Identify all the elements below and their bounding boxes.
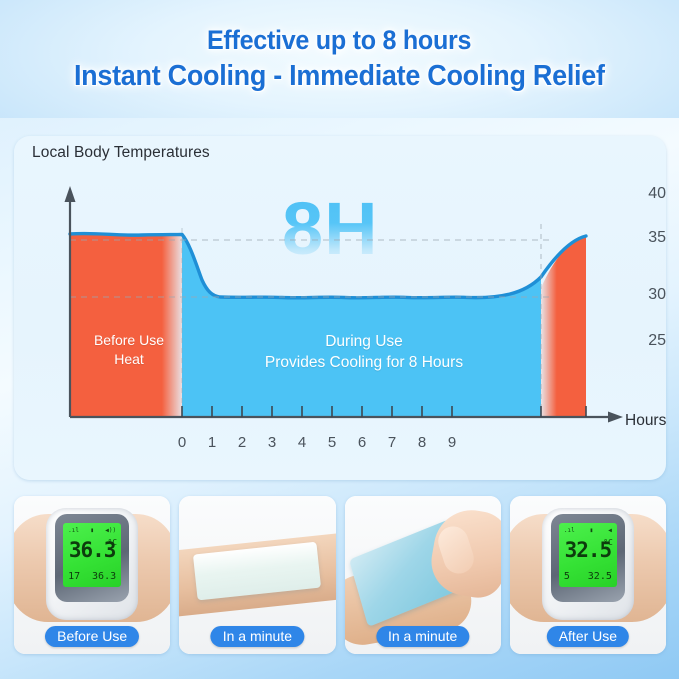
thumbnail-badge-in-a-minute-1: In a minute (211, 626, 304, 647)
region-label-before-use: Before Use Heat (86, 331, 172, 369)
thermometer-unit-after: °C (603, 538, 613, 547)
battery-icon-after: ▮ (590, 527, 594, 534)
chart-card: Local Body Temperatures 8H (14, 136, 666, 480)
thumbnail-strip: .ıl▮◀)) 36.3 °C 17 36.3 Before Use In a … (14, 496, 666, 656)
y-tick-40: 40 (622, 185, 666, 203)
thumbnail-badge-in-a-minute-2: In a minute (376, 626, 469, 647)
thumbnail-before-use[interactable]: .ıl▮◀)) 36.3 °C 17 36.3 Before Use (14, 496, 170, 654)
region-label-during-use: During Use Provides Cooling for 8 Hours (194, 331, 534, 373)
thermometer-unit: °C (107, 538, 117, 547)
speaker-icon: ◀)) (105, 527, 116, 534)
thumbnail-badge-before-use: Before Use (45, 626, 139, 647)
x-axis-title: Hours (625, 412, 666, 430)
x-tick-4: 4 (291, 434, 313, 451)
region-before-line-2: Heat (86, 350, 172, 369)
thermometer-memory-value: 36.3 (92, 571, 116, 582)
battery-icon: ▮ (90, 527, 94, 534)
thumbnail-in-a-minute-2[interactable]: In a minute (345, 496, 501, 654)
x-tick-1: 1 (201, 434, 223, 451)
temperature-area-chart (14, 136, 666, 480)
x-tick-7: 7 (381, 434, 403, 451)
region-during-line-2: Provides Cooling for 8 Hours (194, 352, 534, 373)
x-tick-5: 5 (321, 434, 343, 451)
speaker-icon-after: ◀ (608, 527, 612, 534)
y-tick-35: 35 (622, 229, 666, 247)
thermometer-memory-index: 17 (68, 571, 80, 582)
headline-line-2: Instant Cooling - Immediate Cooling Reli… (74, 57, 605, 95)
x-tick-3: 3 (261, 434, 283, 451)
x-tick-2: 2 (231, 434, 253, 451)
thermometer-memory-index-after: 5 (564, 571, 570, 582)
thumbnail-in-a-minute-1[interactable]: In a minute (179, 496, 335, 654)
x-tick-8: 8 (411, 434, 433, 451)
thumbnail-after-use[interactable]: .ıl▮◀ 32.5 °C 5 32.5 After Use (510, 496, 666, 654)
headline-line-1: Effective up to 8 hours (207, 23, 471, 57)
x-tick-0: 0 (171, 434, 193, 451)
thermometer-memory-value-after: 32.5 (588, 571, 612, 582)
region-before-line-1: Before Use (86, 331, 172, 350)
region-during-line-1: During Use (194, 331, 534, 352)
thumbnail-badge-after-use: After Use (547, 626, 629, 647)
x-tick-9: 9 (441, 434, 463, 451)
x-tick-6: 6 (351, 434, 373, 451)
signal-icon: .ıl (68, 527, 79, 534)
header-banner: Effective up to 8 hours Instant Cooling … (0, 0, 679, 118)
y-tick-25: 25 (622, 332, 666, 350)
y-tick-30: 30 (622, 286, 666, 304)
signal-icon-after: .ıl (564, 527, 575, 534)
